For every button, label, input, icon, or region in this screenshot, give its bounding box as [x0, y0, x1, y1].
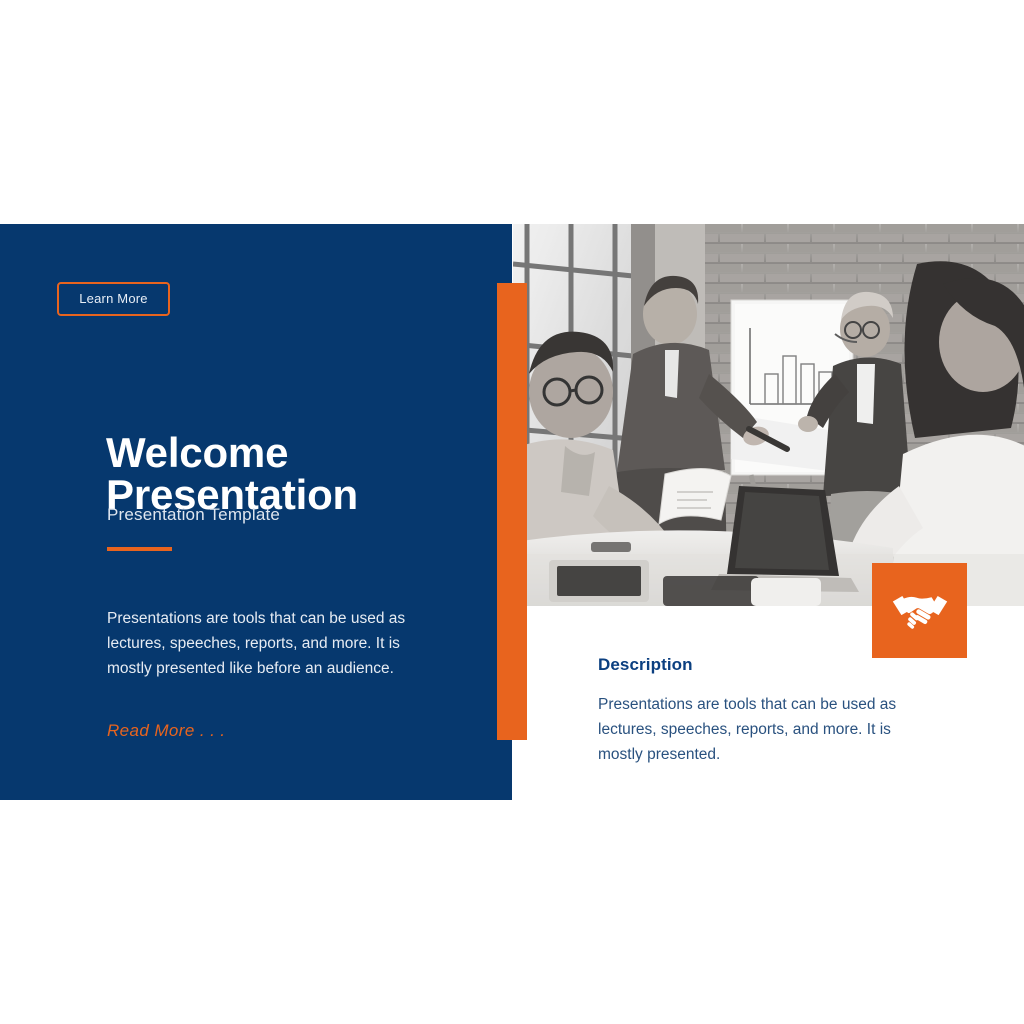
- presentation-slide: Learn More Welcome Presentation Presenta…: [0, 0, 1024, 1024]
- title-divider: [107, 547, 172, 551]
- handshake-icon: [891, 590, 949, 632]
- orange-accent-bar: [497, 283, 527, 740]
- description-paragraph: Presentations are tools that can be used…: [598, 692, 898, 767]
- page-subtitle: Presentation Template: [107, 505, 280, 525]
- read-more-link[interactable]: Read More . . .: [107, 721, 225, 741]
- description-heading: Description: [598, 655, 693, 675]
- page-title: Welcome Presentation: [106, 432, 486, 516]
- intro-paragraph: Presentations are tools that can be used…: [107, 606, 417, 681]
- title-line-1: Welcome: [106, 432, 486, 474]
- meeting-photo: [513, 224, 1024, 606]
- learn-more-button[interactable]: Learn More: [57, 282, 170, 316]
- handshake-badge: [872, 563, 967, 658]
